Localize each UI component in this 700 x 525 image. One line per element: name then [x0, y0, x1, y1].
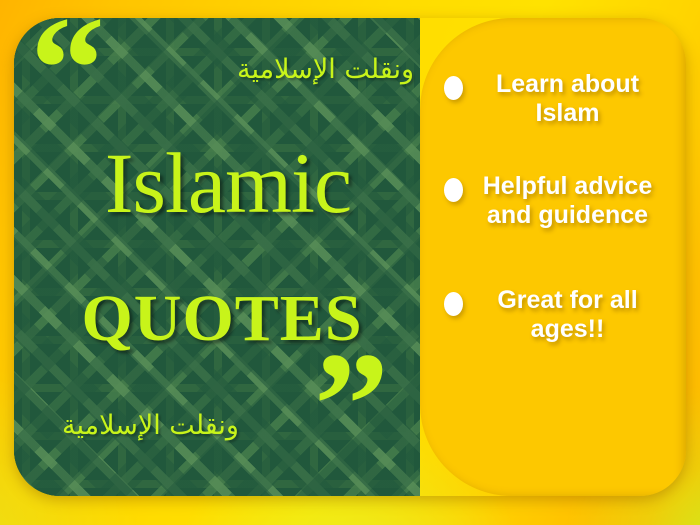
arabic-title-bottom: ونقلت الإسلامية: [62, 410, 239, 441]
feature-list: Learn about Islam Helpful advice and gui…: [430, 70, 676, 382]
list-item: Helpful advice and guidence: [430, 172, 676, 230]
arabic-title-top: ونقلت الإسلامية: [237, 54, 414, 85]
bullet-dot-icon: [444, 292, 463, 316]
bullet-dot-icon: [444, 178, 463, 202]
list-item: Learn about Islam: [430, 70, 676, 128]
green-panel-content: “ ونقلت الإسلامية Islamic QUOTES ونقلت ا…: [14, 18, 420, 496]
list-item-label: Learn about Islam: [471, 70, 676, 128]
closing-quote-icon: ”: [314, 330, 391, 480]
list-item-label: Helpful advice and guidence: [471, 172, 676, 230]
list-item: Great for all ages!!: [430, 286, 676, 344]
poster-canvas: “ ونقلت الإسلامية Islamic QUOTES ونقلت ا…: [0, 0, 700, 525]
opening-quote-icon: “: [30, 18, 107, 144]
green-title-panel: “ ونقلت الإسلامية Islamic QUOTES ونقلت ا…: [14, 18, 420, 496]
bullet-dot-icon: [444, 76, 463, 100]
yellow-features-panel: Learn about Islam Helpful advice and gui…: [420, 18, 686, 496]
list-item-label: Great for all ages!!: [471, 286, 676, 344]
poster-card: “ ونقلت الإسلامية Islamic QUOTES ونقلت ا…: [14, 18, 686, 496]
page-title: Islamic: [36, 140, 420, 226]
